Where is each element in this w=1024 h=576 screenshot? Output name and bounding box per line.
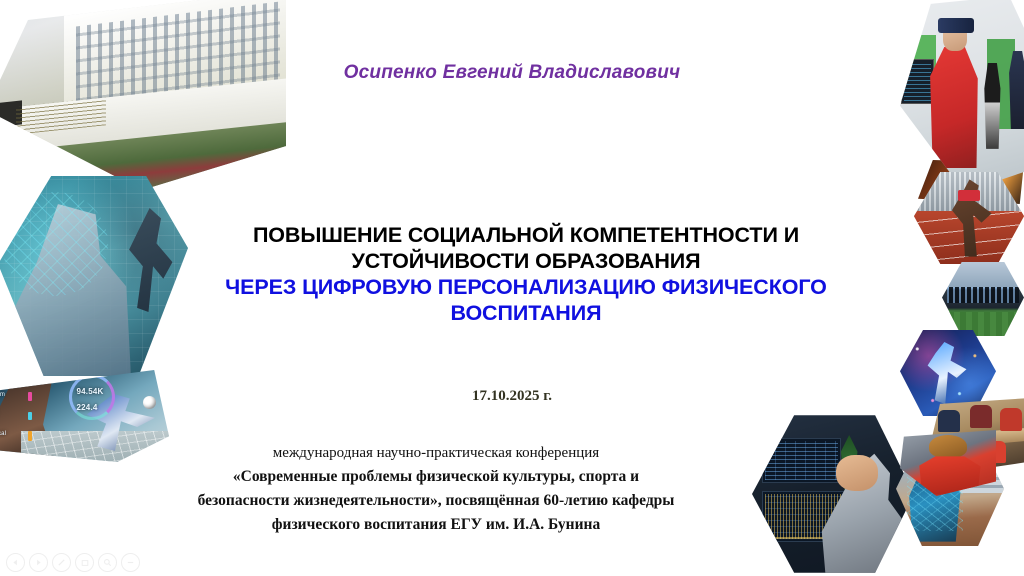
all-slides-button[interactable] [75, 553, 94, 572]
conference-line-4: физического воспитания ЕГУ им. И.А. Буни… [112, 513, 760, 537]
stadium-image [942, 262, 1024, 336]
analyst-monitors-image [752, 412, 914, 576]
conference-line-2: «Современные проблемы физической культур… [112, 465, 760, 489]
title-line-4: ВОСПИТАНИЯ [186, 300, 866, 326]
more-options-button[interactable] [121, 553, 140, 572]
vr-lab-image [900, 0, 1024, 192]
title-line-3: ЧЕРЕЗ ЦИФРОВУЮ ПЕРСОНАЛИЗАЦИЮ ФИЗИЧЕСКОГ… [186, 274, 866, 300]
author-name: Осипенко Евгений Владиславович [0, 62, 1024, 84]
title-line-2: УСТОЙЧИВОСТИ ОБРАЗОВАНИЯ [186, 248, 866, 274]
university-building-image [0, 0, 286, 190]
presentation-slide: 2.8 km 41.2 06 kcal 94.54K 224.4 [0, 0, 1024, 576]
title-line-1: ПОВЫШЕНИЕ СОЦИАЛЬНОЙ КОМПЕТЕНТНОСТИ И [186, 222, 866, 248]
conference-line-1: международная научно-практическая конфер… [112, 442, 760, 465]
previous-slide-button[interactable] [6, 553, 25, 572]
ai-athlete-image [0, 176, 188, 376]
slide-title: ПОВЫШЕНИЕ СОЦИАЛЬНОЙ КОМПЕТЕНТНОСТИ И УС… [186, 222, 866, 326]
presentation-toolbar[interactable] [6, 553, 140, 572]
conference-line-3: безопасности жизнедеятельности», посвящё… [112, 489, 760, 513]
next-slide-button[interactable] [29, 553, 48, 572]
conference-description: международная научно-практическая конфер… [112, 442, 760, 537]
zoom-button[interactable] [98, 553, 117, 572]
event-date: 17.10.2025 г. [0, 388, 1024, 405]
fitness-calories-value: 06 kcal [0, 431, 6, 437]
pen-tool-button[interactable] [52, 553, 71, 572]
